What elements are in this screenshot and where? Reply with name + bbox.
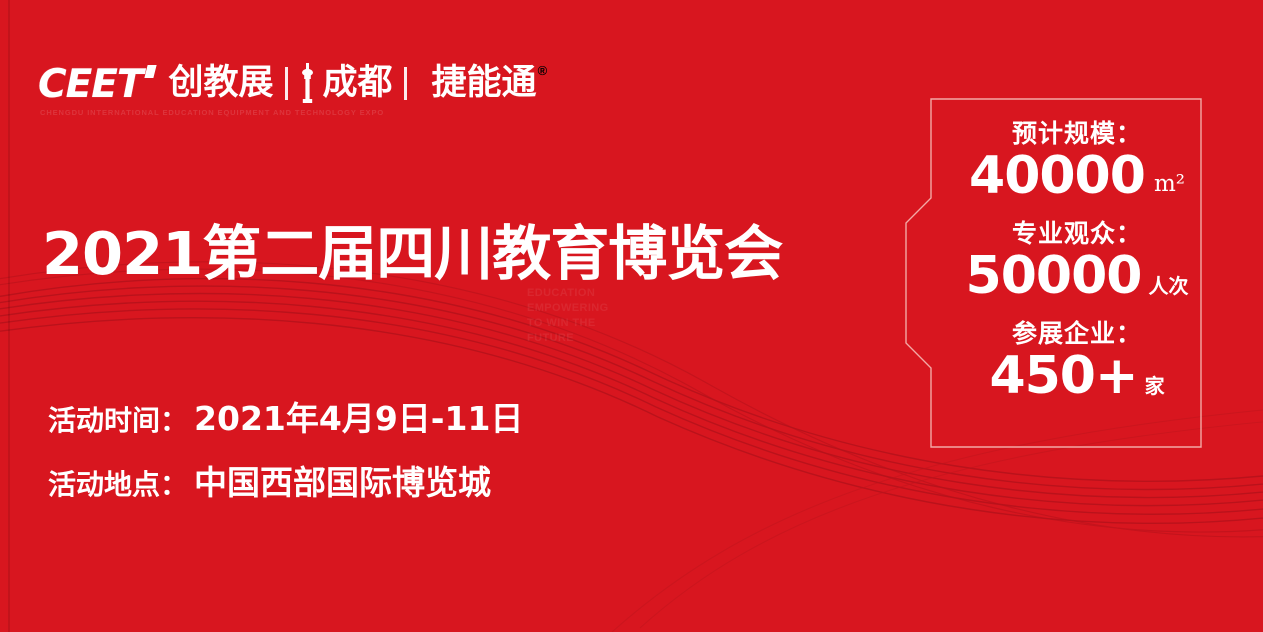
logo-subtitle-faint: CHENGDU INTERNATIONAL EDUCATION EQUIPMEN… xyxy=(40,108,384,117)
stat-visitors-value-row: 50000 人次 xyxy=(952,249,1202,304)
brand-chinese-wordmark: 创教展 xyxy=(169,66,274,101)
stat-visitors-label: 专业观众： xyxy=(952,218,1202,249)
registered-trademark-icon: ® xyxy=(538,63,548,78)
page-title: 2021第二届四川教育博览会 xyxy=(42,222,782,286)
stat-scale-value-row: 40000 m² xyxy=(952,149,1202,204)
event-details: 活动时间： 2021年4月9日-11日 活动地点： 中国西部国际博览城 xyxy=(48,392,523,520)
event-date-value: 2021年4月9日-11日 xyxy=(194,392,523,440)
left-edge-stripe xyxy=(8,0,10,632)
stat-scale: 预计规模： 40000 m² xyxy=(952,118,1202,204)
city-label: 成都 xyxy=(323,66,393,101)
event-venue-label: 活动地点： xyxy=(48,463,188,503)
english-watermark-text: EDUCATION EMPOWERING TO WIN THE FUTURE xyxy=(527,286,609,345)
logo-lockup[interactable]: CEET 创教展 成都 捷能通 ® xyxy=(38,57,547,109)
event-date-label: 活动时间： xyxy=(48,399,188,439)
stat-scale-label: 预计规模： xyxy=(952,118,1202,149)
stat-scale-number: 40000 xyxy=(969,149,1145,204)
event-venue-value: 中国西部国际博览城 xyxy=(194,456,491,504)
logo-accent-tick xyxy=(144,65,156,78)
tower-icon xyxy=(299,63,316,103)
stat-visitors-number: 50000 xyxy=(966,249,1142,304)
logo-divider-2 xyxy=(404,67,407,100)
stat-exhibitors-unit: 家 xyxy=(1145,376,1165,397)
stat-scale-unit: m² xyxy=(1154,172,1185,196)
logo-divider-1 xyxy=(285,67,288,100)
brand-latin-wordmark: CEET xyxy=(38,65,143,104)
event-banner: CEET 创教展 成都 捷能通 ® CHENGDU INTERNATIONAL … xyxy=(0,0,1263,632)
event-venue-row: 活动地点： 中国西部国际博览城 xyxy=(48,456,523,504)
stat-visitors-unit: 人次 xyxy=(1148,276,1188,297)
city-group: 成都 xyxy=(299,63,393,103)
event-date-row: 活动时间： 2021年4月9日-11日 xyxy=(48,392,523,440)
stat-exhibitors-label: 参展企业： xyxy=(952,318,1202,349)
stat-exhibitors-number: 450+ xyxy=(989,349,1137,404)
stat-visitors: 专业观众： 50000 人次 xyxy=(952,218,1202,304)
stat-exhibitors-value-row: 450+ 家 xyxy=(952,349,1202,404)
sponsor-wordmark: 捷能通 xyxy=(432,66,537,101)
stat-exhibitors: 参展企业： 450+ 家 xyxy=(952,318,1202,404)
stats-panel: 预计规模： 40000 m² 专业观众： 50000 人次 参展企业： 450+… xyxy=(952,118,1202,404)
